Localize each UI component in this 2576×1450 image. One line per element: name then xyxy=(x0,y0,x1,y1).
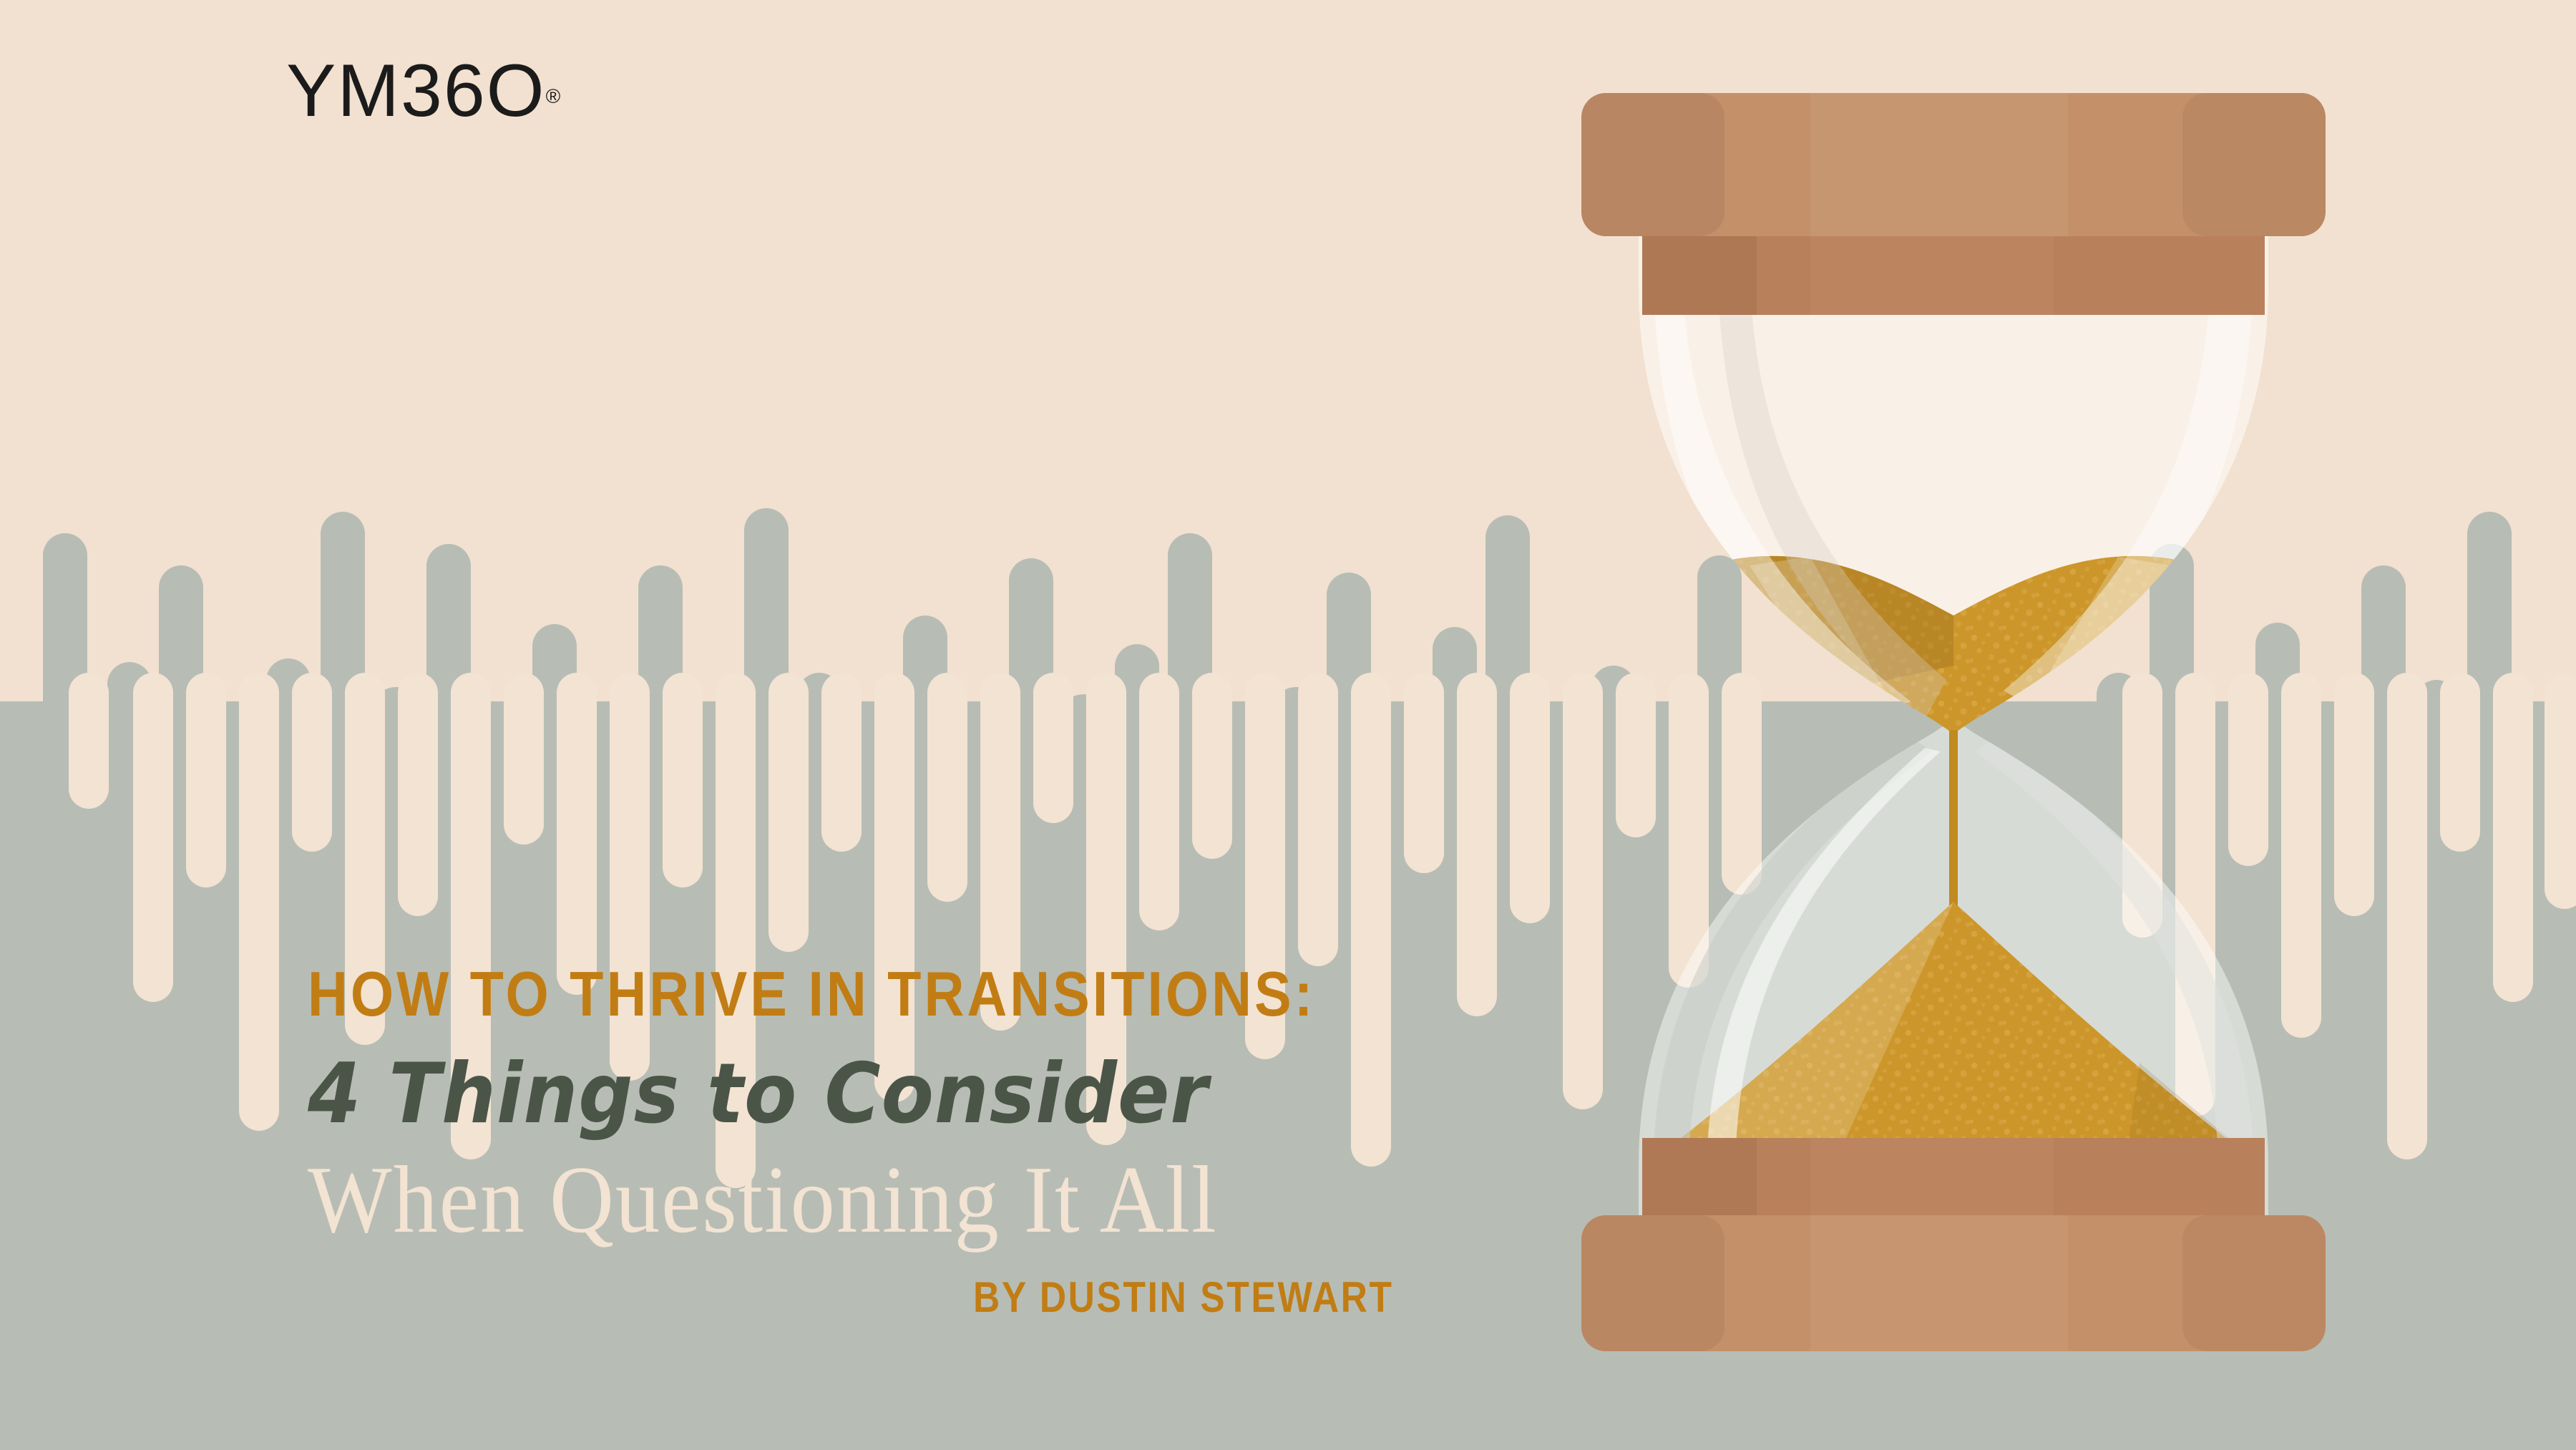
cream-drip-bar xyxy=(2387,673,2427,1159)
logo-wordmark: YM36O xyxy=(286,49,546,132)
cream-drip-bar xyxy=(398,673,438,916)
wooden-top-cap xyxy=(1581,93,2326,315)
cream-drip-bar xyxy=(821,673,862,852)
title-line-2-text: 4 Things to Consider xyxy=(308,1046,1209,1142)
title-line-3: When Questioning It All xyxy=(308,1152,1506,1247)
cream-drip-bar xyxy=(292,673,332,852)
cream-drip-bar xyxy=(1404,673,1444,873)
cream-drip-bar xyxy=(239,673,279,1131)
cream-drip-bar xyxy=(504,673,544,845)
cream-drip-bar xyxy=(663,673,703,887)
cream-drip-bar xyxy=(1139,673,1179,930)
cream-drip-bar xyxy=(1033,673,1073,823)
wooden-base xyxy=(1581,1138,2326,1351)
ym360-logo[interactable]: YM36O® xyxy=(286,54,560,128)
cream-drip-bar xyxy=(69,673,109,809)
title-block: HOW TO THRIVE IN TRANSITIONS: 4 Things t… xyxy=(308,963,1596,1319)
cream-drip-bar xyxy=(2334,673,2374,916)
hourglass-illustration xyxy=(1574,72,2333,1381)
cream-drip-bar xyxy=(2545,673,2576,909)
title-line-2: 4 Things to Consider xyxy=(308,1053,1493,1136)
cream-drip-bar xyxy=(2440,673,2480,852)
registered-trademark-icon: ® xyxy=(546,85,561,107)
cream-drip-bar xyxy=(186,673,226,887)
cream-drip-bar xyxy=(133,673,173,1002)
cream-drip-bar xyxy=(1298,673,1338,966)
cream-drip-bar xyxy=(1192,673,1232,859)
cream-drip-bar xyxy=(927,673,967,902)
cream-drip-bar xyxy=(1510,673,1550,923)
byline: BY DUSTIN STEWART xyxy=(973,1276,1508,1319)
title-line-1: HOW TO THRIVE IN TRANSITIONS: xyxy=(308,963,1441,1026)
cream-drip-bar xyxy=(769,673,809,952)
cream-drip-bar xyxy=(2493,673,2533,1002)
article-header-graphic: YM36O® xyxy=(0,0,2576,1450)
cream-drip-bar xyxy=(557,673,597,995)
